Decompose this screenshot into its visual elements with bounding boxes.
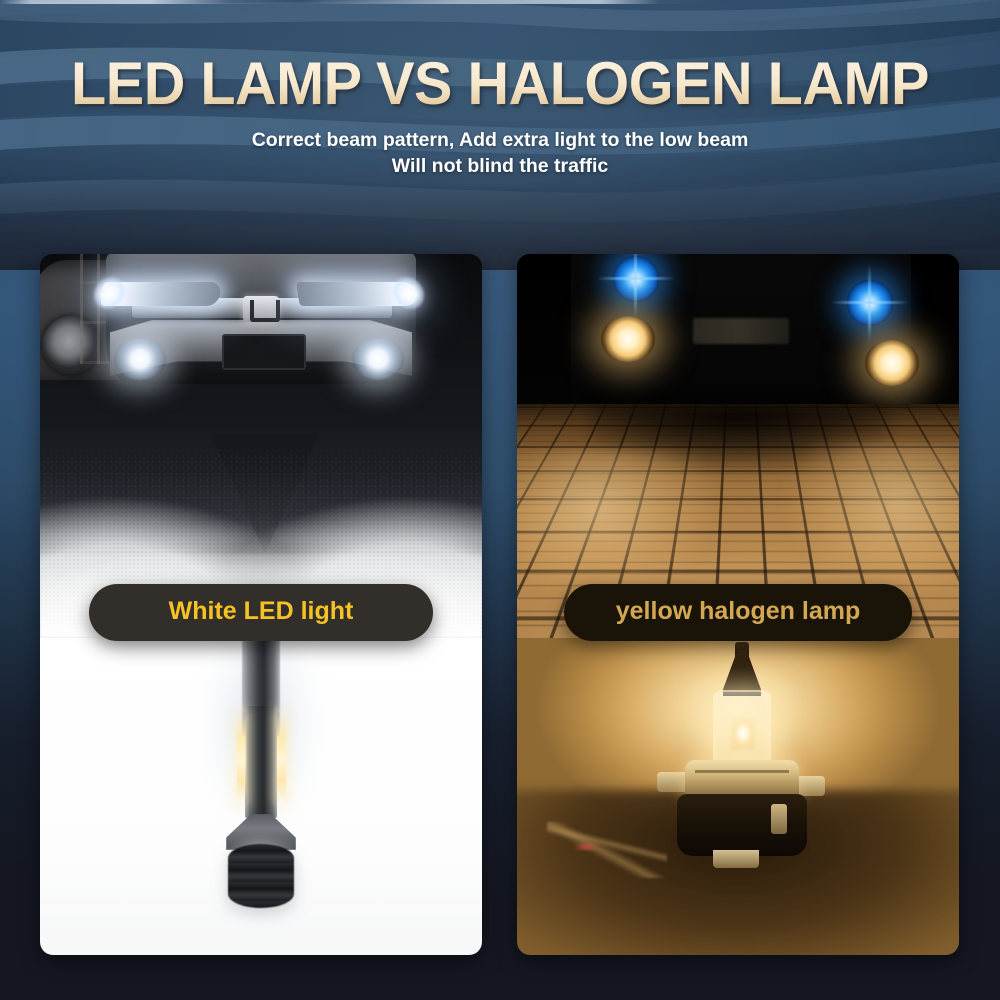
- led-headlight-right: [296, 282, 417, 306]
- header: LED LAMP VS HALOGEN LAMP Correct beam pa…: [0, 0, 1000, 180]
- blue-accent-light-left: [613, 256, 659, 302]
- license-plate: [693, 318, 789, 344]
- subtitle-line-1: Correct beam pattern, Add extra light to…: [252, 129, 749, 151]
- subtitle-line-2: Will not blind the traffic: [0, 154, 1000, 180]
- led-comparison-card[interactable]: White LED light: [40, 254, 482, 955]
- led-label-text: White LED light: [169, 597, 354, 625]
- comparison-cards: White LED light: [40, 254, 960, 955]
- halogen-label-pill: yellow halogen lamp: [564, 584, 912, 641]
- bulb-base-notch: [771, 804, 787, 834]
- page-title: LED LAMP VS HALOGEN LAMP: [20, 53, 980, 114]
- led-label-pill: White LED light: [89, 584, 433, 641]
- poster-canvas: LED LAMP VS HALOGEN LAMP Correct beam pa…: [0, 0, 1000, 1000]
- bulb-base-foot: [713, 850, 759, 868]
- halogen-headlight-left: [601, 316, 655, 362]
- blue-accent-light-right: [847, 280, 893, 326]
- led-bulb-heatsink-base: [228, 844, 294, 908]
- halogen-headlight-right: [865, 340, 919, 386]
- bulb-red-wire: [573, 844, 599, 850]
- led-headlight-left: [100, 282, 221, 306]
- led-chip-left: [237, 712, 246, 804]
- bulb-wiring: [547, 822, 667, 878]
- honda-logo-icon: [243, 296, 279, 322]
- fog-light-left: [114, 338, 166, 380]
- led-chip-right: [277, 712, 286, 804]
- halogen-comparison-card[interactable]: yellow halogen lamp: [517, 254, 959, 955]
- halogen-night-scene-photo: [517, 254, 959, 638]
- bulb-filament-glow: [731, 716, 755, 750]
- halogen-label-text: yellow halogen lamp: [616, 597, 861, 625]
- fog-light-right: [352, 338, 404, 380]
- bulb-plastic-base: [677, 794, 807, 856]
- blue-light-starburst: [634, 254, 637, 318]
- license-plate: [222, 334, 306, 370]
- page-subtitle: Correct beam pattern, Add extra light to…: [0, 128, 1000, 180]
- led-bulb-photo: [40, 638, 482, 955]
- halogen-bulb-photo: [517, 638, 959, 955]
- led-bulb-body: [245, 706, 277, 818]
- blue-light-starburst: [868, 264, 871, 342]
- led-night-scene-photo: [40, 254, 482, 638]
